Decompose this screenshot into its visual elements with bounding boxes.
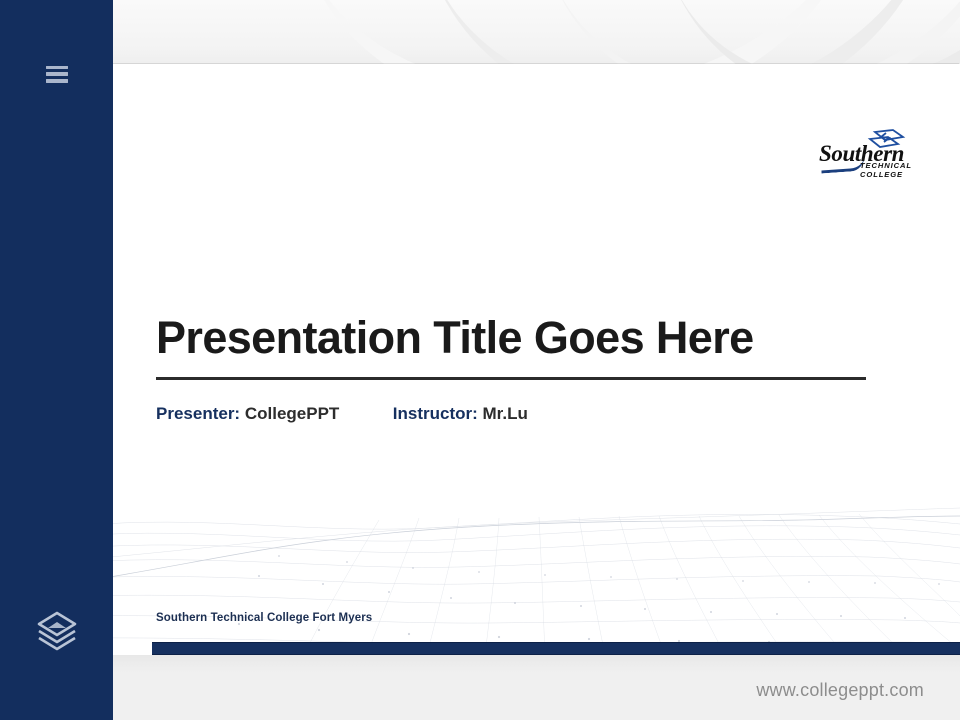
slide-canvas: Southern TECHNICAL COLLEGE Presentation … xyxy=(79,64,960,655)
slide-bottom-bar xyxy=(152,642,960,655)
left-nav-rail xyxy=(0,0,113,720)
presenter-value: CollegePPT xyxy=(245,404,339,423)
page-footer: www.collegeppt.com xyxy=(113,655,960,720)
footer-url: www.collegeppt.com xyxy=(756,680,924,701)
instructor-value: Mr.Lu xyxy=(483,404,528,423)
southern-technical-college-logo: Southern TECHNICAL COLLEGE xyxy=(819,128,937,176)
top-decorative-banner xyxy=(0,0,960,66)
wireframe-mesh-decoration xyxy=(79,464,960,655)
slide-footer-text: Southern Technical College Fort Myers xyxy=(156,612,372,624)
page-title: Presentation Title Goes Here xyxy=(156,314,876,363)
presentation-page: Southern TECHNICAL COLLEGE Presentation … xyxy=(0,0,960,720)
instructor-label: Instructor: xyxy=(393,404,478,423)
title-underline xyxy=(156,377,866,380)
menu-button[interactable] xyxy=(0,60,113,88)
layers-stack-icon xyxy=(34,609,80,653)
byline: Presenter: CollegePPT Instructor: Mr.Lu xyxy=(156,404,528,424)
hamburger-menu-icon xyxy=(46,66,68,83)
layers-button[interactable] xyxy=(0,604,113,658)
presenter-label: Presenter: xyxy=(156,404,240,423)
logo-subtitle: TECHNICAL COLLEGE xyxy=(860,161,937,179)
